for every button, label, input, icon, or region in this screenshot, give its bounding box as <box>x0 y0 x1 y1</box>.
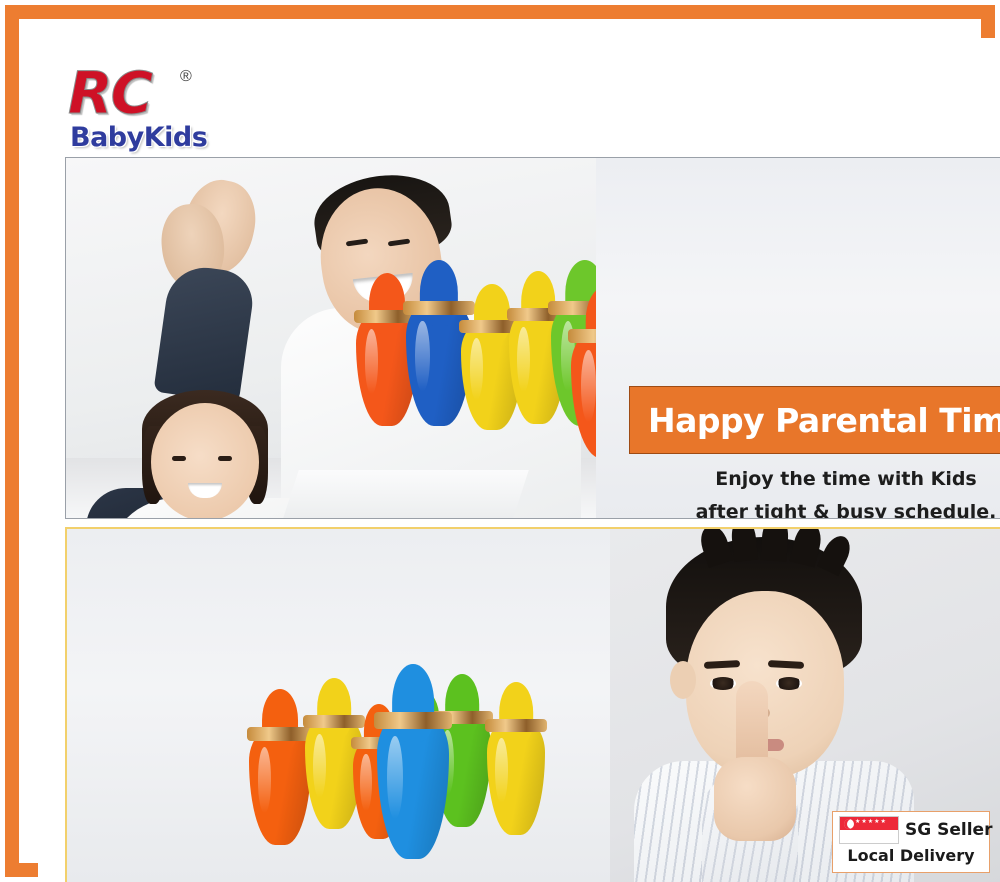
boy-hair-spike-3 <box>760 529 789 562</box>
pin-neck <box>499 682 533 743</box>
boy-hair-spike-2 <box>730 529 758 562</box>
pin-neck <box>474 284 510 342</box>
boy-eye-left <box>710 677 736 690</box>
boy-photo: ★★★★★ SG Seller Local Delivery <box>610 529 1000 882</box>
girl-head <box>151 403 259 518</box>
inner-white-area: RC ® BabyKids <box>38 38 1000 882</box>
panel-building-kids-confidence: ★★★★★ SG Seller Local Delivery Building … <box>65 527 1000 882</box>
child-leg <box>153 263 256 404</box>
boy-fist <box>714 757 796 841</box>
bowling-pin <box>249 725 311 845</box>
pin-highlight <box>495 738 508 803</box>
body-copy-happy-parental-time: Enjoy the time with Kids after tight & b… <box>666 463 1000 519</box>
singapore-flag-icon: ★★★★★ <box>839 816 899 844</box>
promo-banner-page: RC ® BabyKids <box>0 0 1000 882</box>
family-photo <box>66 158 596 518</box>
paper-sheet <box>283 470 529 518</box>
registered-trademark-icon: ® <box>180 68 192 86</box>
bowling-pin <box>377 709 449 859</box>
logo-wordmark: BabyKids <box>70 122 207 153</box>
pin-decorative-band <box>247 727 314 740</box>
outer-orange-frame: RC ® BabyKids <box>5 5 995 877</box>
pin-decorative-band <box>403 301 474 315</box>
boy-ear <box>670 661 696 699</box>
pin-highlight <box>313 734 326 798</box>
pin-neck <box>262 689 298 751</box>
sg-seller-label: SG Seller <box>905 820 992 840</box>
pin-highlight <box>581 350 596 423</box>
body-line-1: Enjoy the time with Kids <box>666 463 1000 496</box>
pin-highlight <box>365 329 379 394</box>
bowling-pin <box>487 717 545 835</box>
pin-highlight <box>470 338 484 400</box>
sg-badge-row: ★★★★★ SG Seller <box>839 816 983 844</box>
pin-decorative-band <box>374 712 452 729</box>
girl-eye-left <box>172 456 186 461</box>
pin-highlight <box>258 747 272 813</box>
pin-neck <box>420 260 458 327</box>
logo-rc-mark: RC <box>68 64 151 122</box>
girl-eye-right <box>218 456 232 461</box>
boy-eye-right <box>776 677 802 690</box>
pin-highlight <box>517 327 530 392</box>
pin-highlight <box>415 321 430 391</box>
pin-highlight <box>360 754 371 811</box>
pin-neck <box>369 273 405 334</box>
pin-neck <box>392 664 434 742</box>
local-delivery-label: Local Delivery <box>839 846 983 865</box>
stars-icon: ★★★★★ <box>855 819 887 825</box>
pin-highlight <box>387 736 403 819</box>
pin-neck <box>317 678 351 738</box>
pin-decorative-band <box>303 715 366 728</box>
panel-happy-parental-time: Happy Parental Time Enjoy the time with … <box>65 157 1000 519</box>
body-line-2: after tight & busy schedule. <box>666 496 1000 519</box>
sg-seller-badge: ★★★★★ SG Seller Local Delivery <box>832 811 990 873</box>
crescent-icon <box>844 819 854 829</box>
pin-decorative-band <box>485 719 548 732</box>
brand-logo[interactable]: RC ® BabyKids <box>62 64 262 150</box>
headline-happy-parental-time: Happy Parental Time <box>629 386 1000 454</box>
pin-decorative-band <box>568 329 596 344</box>
